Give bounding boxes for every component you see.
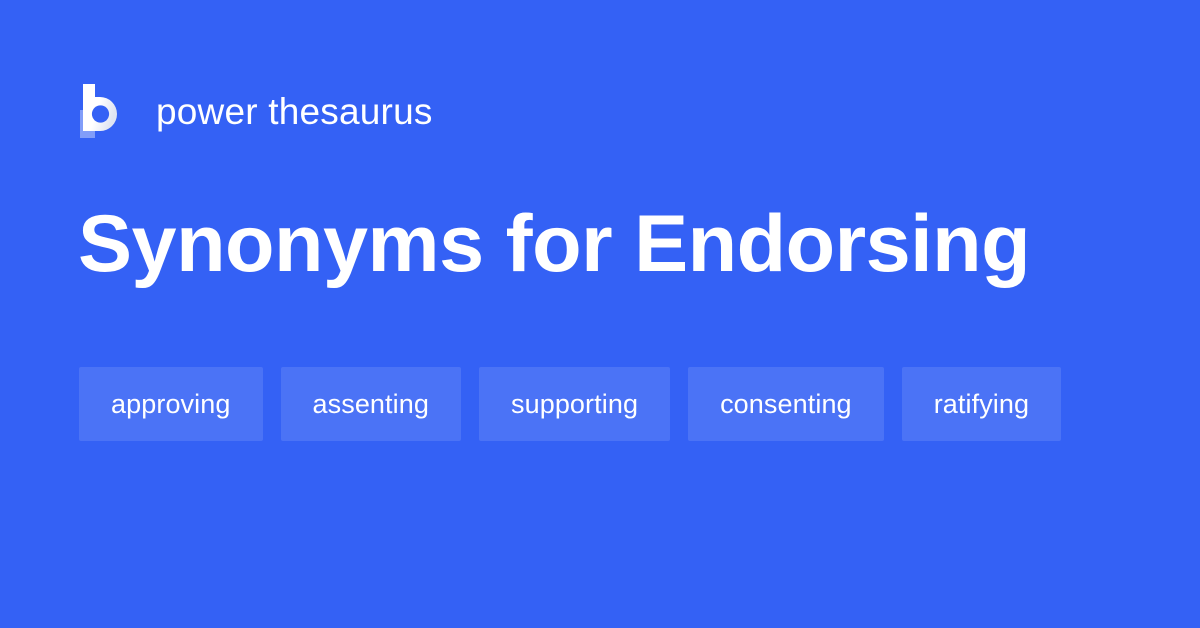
synonym-chip[interactable]: ratifying — [902, 367, 1061, 441]
synonym-list: approving assenting supporting consentin… — [79, 367, 1139, 441]
brand-logo[interactable]: power thesaurus — [80, 80, 433, 142]
page-title: Synonyms for Endorsing — [78, 196, 1030, 292]
synonym-chip[interactable]: approving — [79, 367, 263, 441]
synonym-chip[interactable]: supporting — [479, 367, 670, 441]
power-thesaurus-logo-icon — [80, 84, 126, 138]
synonym-chip[interactable]: consenting — [688, 367, 884, 441]
brand-name: power thesaurus — [156, 93, 433, 130]
synonym-chip[interactable]: assenting — [281, 367, 461, 441]
synonyms-share-card: power thesaurus Synonyms for Endorsing a… — [0, 0, 1200, 628]
